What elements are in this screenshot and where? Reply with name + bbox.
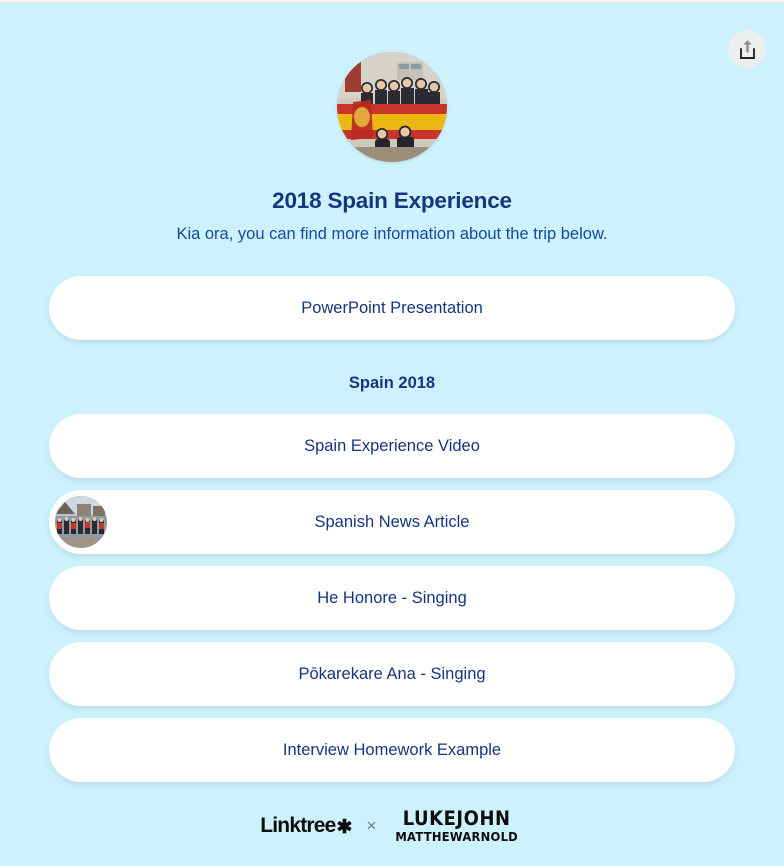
profile-header: 2018 Spain Experience Kia ora, you can f… — [0, 52, 784, 245]
link-card-pokarekare-ana-singing[interactable]: Pōkarekare Ana - Singing — [49, 642, 735, 706]
link-label: Spain Experience Video — [304, 436, 480, 457]
link-card-spanish-news-article[interactable]: Spanish News Article — [49, 490, 735, 554]
link-label: Pōkarekare Ana - Singing — [298, 664, 485, 685]
link-card-spain-experience-video[interactable]: Spain Experience Video — [49, 414, 735, 478]
footer: Linktree ✱ × LUKEJOHN MATTHEWARNOLD — [0, 809, 784, 843]
link-card-interview-homework-example[interactable]: Interview Homework Example — [49, 718, 735, 782]
link-label: He Honore - Singing — [317, 588, 467, 609]
linktree-page: 2018 Spain Experience Kia ora, you can f… — [0, 0, 784, 866]
linktree-asterisk-icon: ✱ — [337, 818, 353, 837]
avatar — [337, 52, 447, 162]
creator-name-top: LUKEJOHN — [403, 809, 511, 829]
links-list: PowerPoint Presentation Spain 2018 Spain… — [0, 276, 784, 782]
browser-top-edge — [0, 0, 784, 3]
page-title: 2018 Spain Experience — [272, 187, 512, 214]
footer-separator-icon: × — [366, 816, 376, 836]
avatar-photo — [337, 52, 447, 162]
section-heading: Spain 2018 — [49, 352, 735, 414]
link-thumbnail-photo — [55, 496, 107, 548]
link-label: Interview Homework Example — [283, 740, 501, 761]
page-subtitle: Kia ora, you can find more information a… — [176, 224, 607, 245]
share-button[interactable] — [728, 30, 766, 68]
link-card-he-honore-singing[interactable]: He Honore - Singing — [49, 566, 735, 630]
link-label: Spanish News Article — [315, 512, 470, 533]
linktree-wordmark: Linktree — [260, 814, 335, 838]
creator-name-bottom: MATTHEWARNOLD — [396, 831, 519, 844]
link-label: PowerPoint Presentation — [301, 298, 483, 319]
creator-logo[interactable]: LUKEJOHN MATTHEWARNOLD — [390, 809, 523, 843]
link-card-powerpoint-presentation[interactable]: PowerPoint Presentation — [49, 276, 735, 340]
share-up-arrow-icon — [738, 39, 757, 60]
linktree-logo[interactable]: Linktree ✱ — [260, 814, 352, 838]
link-thumbnail — [55, 496, 107, 548]
